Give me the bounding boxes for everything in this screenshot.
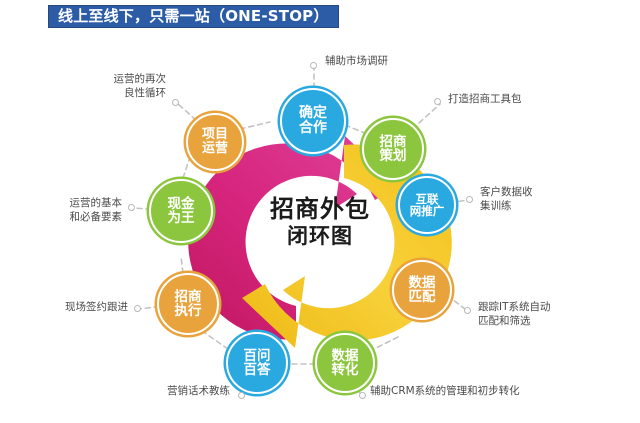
node-hulianwang-tuiguang-line2: 网推广 — [410, 205, 445, 217]
caption-shichang-diaoyan: 辅助市场调研 — [325, 54, 388, 68]
connector-dot-bottom-left — [238, 392, 245, 399]
caption-zhaoshang-gongjubao: 打造招商工具包 — [448, 92, 522, 106]
node-shuju-zhuanhua-line2: 转化 — [332, 363, 359, 377]
cycle-diagram: 招商外包 闭环图 确定 合作 招商 策划 互联 网推广 数据 匹配 数据 转化 … — [0, 28, 640, 423]
connector-dot-upper-right — [434, 98, 441, 105]
node-zhaoshang-cehua-line1: 招商 — [380, 135, 407, 149]
node-zhaoshang-cehua-line2: 策划 — [380, 149, 407, 163]
page-title-banner: 线上至线下，只需一站（ONE-STOP） — [48, 5, 339, 28]
node-shuju-zhuanhua-line1: 数据 — [332, 349, 359, 363]
node-queding-hezuo-line1: 确定 — [299, 106, 327, 121]
page-title: 线上至线下，只需一站（ONE-STOP） — [58, 9, 329, 24]
node-zhaoshang-zhixing[interactable]: 招商 执行 — [157, 273, 219, 335]
caption-xianchang-qianyue: 现场签约跟进 — [46, 300, 128, 314]
node-xiangmu-yunying[interactable]: 项目 运营 — [186, 113, 244, 171]
node-zhaoshang-zhixing-line1: 招商 — [175, 290, 202, 304]
connector-dot-top — [310, 62, 317, 69]
node-xianjin-weiwang[interactable]: 现金 为王 — [149, 179, 213, 243]
node-shuju-zhuanhua[interactable]: 数据 转化 — [315, 333, 375, 393]
node-zhaoshang-cehua[interactable]: 招商 策划 — [362, 118, 424, 180]
connector-dot-right — [466, 196, 473, 203]
connector-dot-upper-left — [172, 99, 179, 106]
node-xiangmu-yunying-line1: 项目 — [202, 128, 228, 142]
node-xianjin-weiwang-line1: 现金 — [168, 197, 195, 211]
caption-yunying-jiben: 运营的基本 和必备要素 — [42, 196, 122, 224]
node-baiwen-baida[interactable]: 百问 百答 — [226, 332, 288, 394]
connector-dot-bottom-right — [359, 392, 366, 399]
node-queding-hezuo-line2: 合作 — [299, 121, 327, 136]
node-shuju-pipei-line2: 匹配 — [409, 290, 436, 304]
node-shuju-pipei[interactable]: 数据 匹配 — [392, 260, 452, 320]
connector-dot-lower-right — [464, 307, 471, 314]
node-baiwen-baida-line1: 百问 — [244, 349, 271, 363]
node-shuju-pipei-line1: 数据 — [409, 276, 436, 290]
caption-yingxiao-huashu: 营销话术教练 — [144, 384, 230, 398]
caption-crm-xitong: 辅助CRM系统的管理和初步转化 — [370, 384, 520, 398]
connector-dot-left — [128, 204, 135, 211]
node-zhaoshang-zhixing-line2: 执行 — [175, 304, 202, 318]
connector-dot-left-lower — [134, 305, 141, 312]
node-queding-hezuo[interactable]: 确定 合作 — [280, 88, 346, 154]
node-xiangmu-yunying-line2: 运营 — [202, 142, 228, 156]
node-baiwen-baida-line2: 百答 — [244, 363, 271, 377]
node-xianjin-weiwang-line2: 为王 — [168, 211, 195, 225]
caption-yunying-zaici: 运营的再次 良性循环 — [88, 72, 166, 100]
caption-it-xitong: 跟踪IT系统自动 匹配和筛选 — [478, 300, 551, 328]
caption-kehu-shuju: 客户数据收 集训练 — [480, 185, 533, 213]
node-hulianwang-tuiguang[interactable]: 互联 网推广 — [398, 176, 456, 234]
